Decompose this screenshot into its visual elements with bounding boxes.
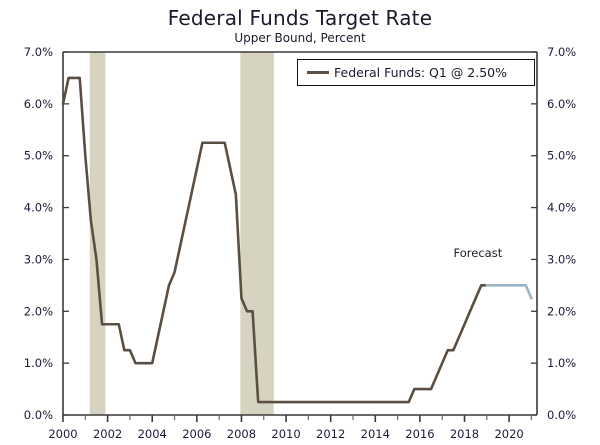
y-axis-label-right: 0.0% — [547, 408, 576, 422]
y-axis-label-left: 5.0% — [24, 149, 53, 163]
x-axis-label: 2006 — [182, 427, 211, 441]
x-axis-label: 2004 — [138, 427, 167, 441]
y-axis-label-left: 3.0% — [24, 252, 53, 266]
y-axis-label-left: 4.0% — [24, 201, 53, 215]
recession-band — [240, 52, 273, 415]
x-axis-label: 2012 — [316, 427, 345, 441]
chart-container: Federal Funds Target Rate Upper Bound, P… — [0, 0, 600, 445]
x-axis-label: 2014 — [361, 427, 390, 441]
y-axis-label-right: 6.0% — [547, 97, 576, 111]
y-axis-label-right: 3.0% — [547, 252, 576, 266]
x-axis-label: 2010 — [271, 427, 300, 441]
y-axis-label-left: 6.0% — [24, 97, 53, 111]
y-axis-label-left: 1.0% — [24, 356, 53, 370]
y-axis-label-left: 7.0% — [24, 45, 53, 59]
series-line-forecast — [487, 285, 532, 298]
forecast-label: Forecast — [454, 246, 503, 260]
y-axis-label-left: 0.0% — [24, 408, 53, 422]
x-axis-label: 2000 — [48, 427, 77, 441]
x-axis-label: 2008 — [227, 427, 256, 441]
y-axis-label-right: 4.0% — [547, 201, 576, 215]
x-axis-label: 2016 — [405, 427, 434, 441]
y-axis-label-left: 2.0% — [24, 304, 53, 318]
x-axis-label: 2002 — [93, 427, 122, 441]
x-axis-label: 2018 — [450, 427, 479, 441]
y-axis-label-right: 7.0% — [547, 45, 576, 59]
y-axis-label-right: 2.0% — [547, 304, 576, 318]
y-axis-label-right: 5.0% — [547, 149, 576, 163]
x-axis-label: 2020 — [494, 427, 523, 441]
series-line-history — [63, 78, 487, 402]
chart-legend[interactable]: Federal Funds: Q1 @ 2.50% — [297, 59, 535, 86]
y-axis-label-right: 1.0% — [547, 356, 576, 370]
legend-swatch-federal-funds — [307, 71, 329, 74]
legend-label-federal-funds: Federal Funds: Q1 @ 2.50% — [334, 65, 507, 80]
